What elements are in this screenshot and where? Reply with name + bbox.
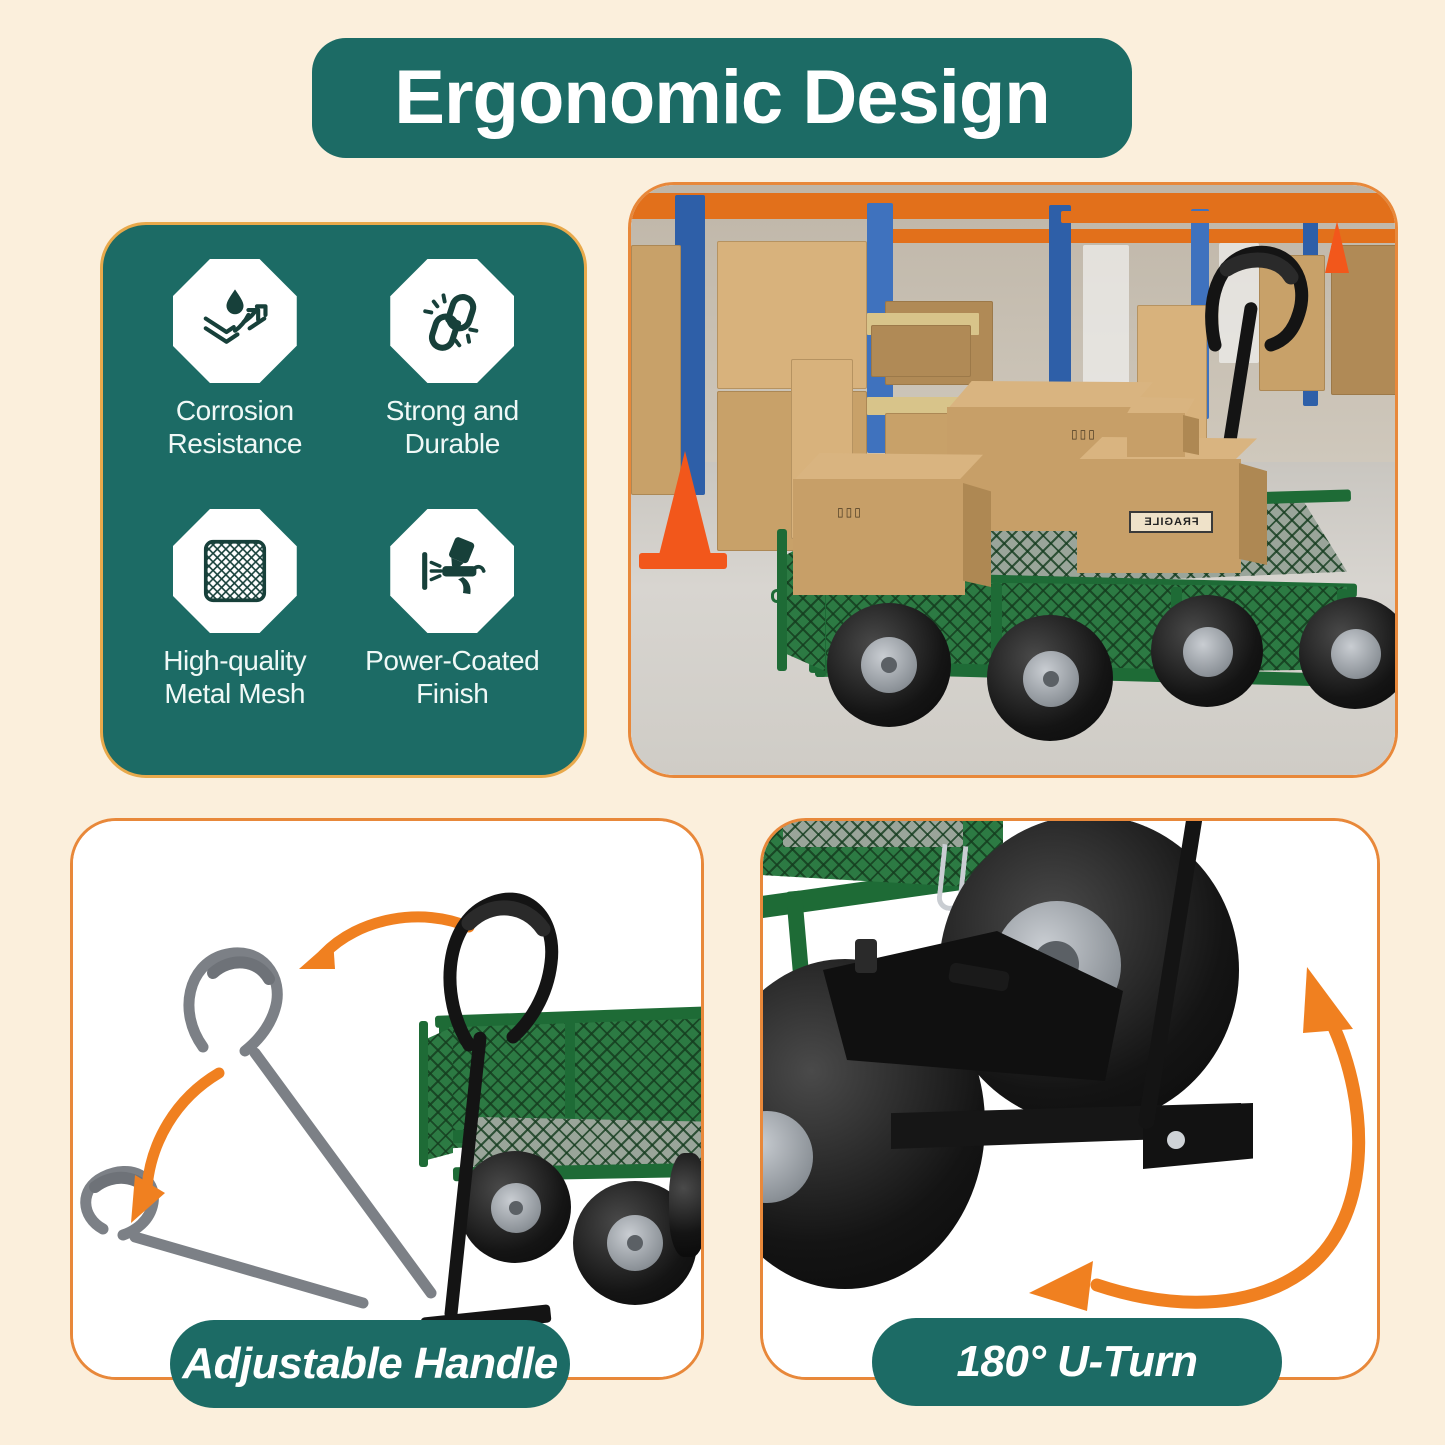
- feature-label: Power-Coated Finish: [365, 645, 539, 711]
- cart-wheel-hub-cap: [627, 1235, 643, 1251]
- cargo-box-right: FRAGILE: [1067, 437, 1267, 573]
- cart-axle-stub: [855, 939, 877, 973]
- warehouse-carton: [871, 325, 971, 377]
- feature-label: High-quality Metal Mesh: [163, 645, 306, 711]
- spray-gun-icon: [390, 509, 514, 633]
- adjustable-handle-photo: [70, 818, 704, 1380]
- u-turn-label: 180° U-Turn: [872, 1318, 1282, 1406]
- metal-mesh-icon: [173, 509, 297, 633]
- safety-cone: [659, 451, 711, 555]
- feature-item-corrosion-resistance: Corrosion Resistance: [129, 259, 341, 499]
- page-title: Ergonomic Design: [394, 60, 1049, 136]
- safety-cone: [1325, 221, 1349, 273]
- cart-bed-mesh: [783, 818, 963, 847]
- safety-cone-base: [639, 553, 727, 569]
- uturn-pill-text: 180° U-Turn: [956, 1337, 1197, 1387]
- page-title-banner: Ergonomic Design: [312, 38, 1132, 158]
- water-repellent-icon: [173, 259, 297, 383]
- shipping-mark: ▯▯▯: [837, 505, 863, 519]
- feature-label: Strong and Durable: [386, 395, 519, 461]
- feature-panel: Corrosion Resistance Strong and Durable: [100, 222, 587, 778]
- cart-wheel-hub-cap: [1043, 671, 1059, 687]
- handle-swing-arrow-lower: [123, 1061, 253, 1241]
- adjustable-handle-label: Adjustable Handle: [170, 1320, 570, 1408]
- cart-wheel-hub-cap: [881, 657, 897, 673]
- uturn-scene: [763, 821, 1377, 1377]
- feature-item-power-coated-finish: Power-Coated Finish: [347, 509, 559, 749]
- u-turn-axle-photo: [760, 818, 1380, 1380]
- cargo-box-small: [1121, 397, 1199, 457]
- handle-scene: [73, 821, 701, 1377]
- chain-link-icon: [390, 259, 514, 383]
- cart-post: [701, 1009, 704, 1131]
- handle-pill-text: Adjustable Handle: [182, 1339, 557, 1389]
- u-turn-arrow: [1001, 955, 1380, 1335]
- warehouse-scene: ▯▯▯ ▯▯▯ FRAGILE: [631, 185, 1395, 775]
- feature-item-metal-mesh: High-quality Metal Mesh: [129, 509, 341, 749]
- fragile-label: FRAGILE: [1129, 511, 1213, 533]
- feature-label: Corrosion Resistance: [167, 395, 302, 461]
- warehouse-cart-photo: ▯▯▯ ▯▯▯ FRAGILE: [628, 182, 1398, 778]
- cargo-box-left: ▯▯▯: [781, 453, 991, 595]
- cart-wheel-hub-cap: [509, 1201, 523, 1215]
- cart-handle-loop: [425, 879, 585, 1049]
- cart-wheel-hub: [1331, 629, 1381, 679]
- cart-wheel-hub: [1183, 627, 1233, 677]
- cart-handle-loop: [1187, 241, 1327, 351]
- cart-wheel: [669, 1153, 704, 1257]
- feature-item-strong-and-durable: Strong and Durable: [347, 259, 559, 499]
